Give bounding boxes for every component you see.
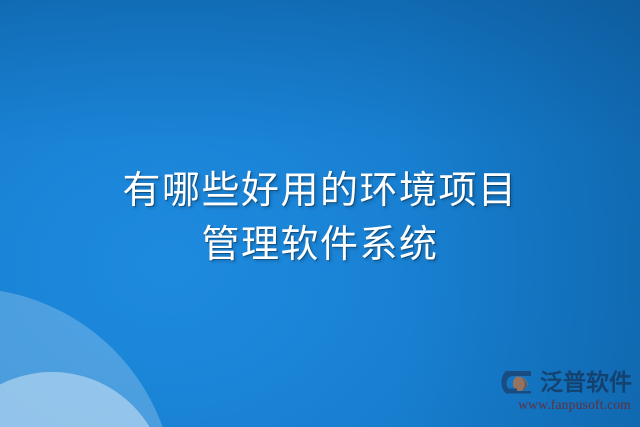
brand-logo-row: 泛普软件	[501, 369, 632, 395]
brand-url: www.fanpusoft.com	[518, 396, 631, 413]
page-title: 有哪些好用的环境项目 管理软件系统	[0, 164, 640, 272]
brand-name: 泛普软件	[540, 369, 632, 395]
brand-watermark: 泛普软件 www.fanpusoft.com	[501, 369, 632, 413]
title-line-2: 管理软件系统	[0, 218, 640, 272]
fanpusoft-logo-icon	[501, 369, 535, 395]
slide-canvas: 有哪些好用的环境项目 管理软件系统 泛普软件 www.fanpusoft.com	[0, 0, 640, 427]
title-line-1: 有哪些好用的环境项目	[0, 164, 640, 218]
